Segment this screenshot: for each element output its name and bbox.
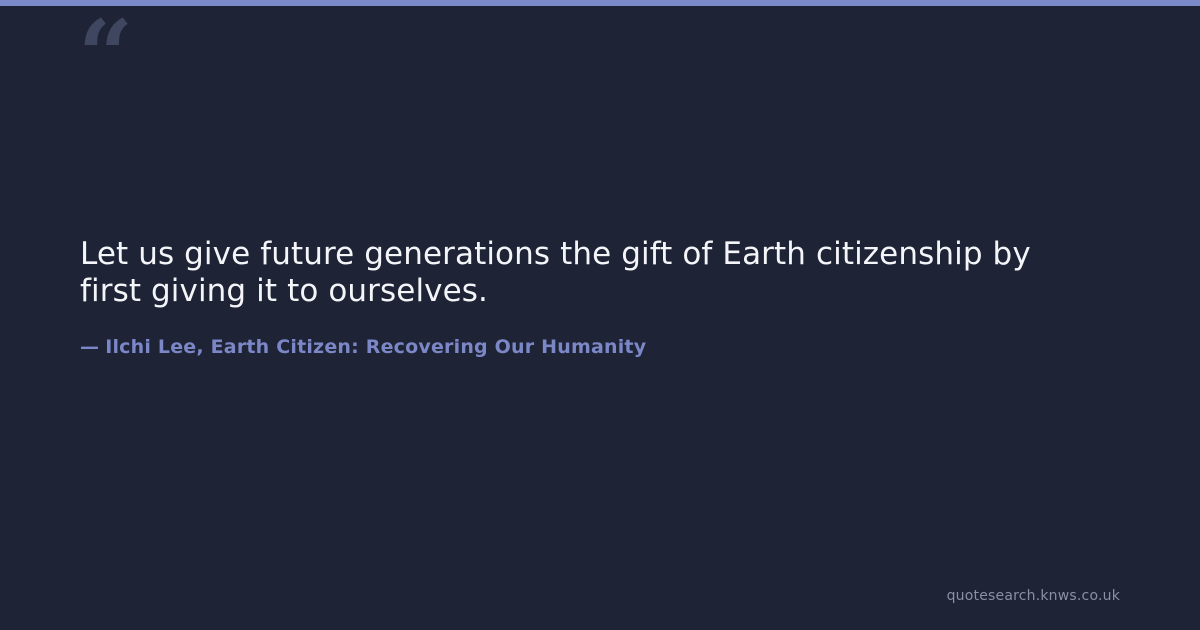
site-url-label: quotesearch.knws.co.uk bbox=[947, 588, 1120, 604]
quote-text: Let us give future generations the gift … bbox=[80, 236, 1075, 310]
quote-card: “ Let us give future generations the gif… bbox=[0, 0, 1200, 630]
attribution-text: Ilchi Lee, Earth Citizen: Recovering Our… bbox=[105, 336, 646, 358]
quote-attribution: —Ilchi Lee, Earth Citizen: Recovering Ou… bbox=[80, 336, 1120, 358]
quote-content: Let us give future generations the gift … bbox=[80, 236, 1120, 358]
attribution-dash: — bbox=[80, 336, 99, 358]
quotation-mark-icon: “ bbox=[78, 8, 131, 104]
top-accent-bar bbox=[0, 0, 1200, 6]
